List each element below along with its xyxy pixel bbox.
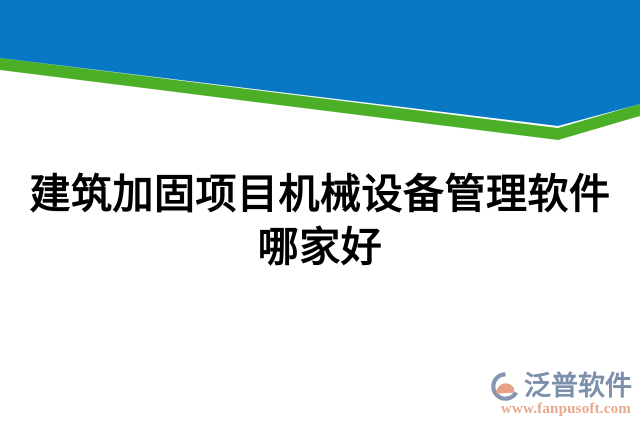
brand-url: www.fanpusoft.com	[501, 401, 631, 418]
page-title-line-1: 建筑加固项目机械设备管理软件	[0, 168, 640, 221]
page-title-line-2: 哪家好	[0, 221, 640, 274]
brand-logo: 泛普软件 www.fanpusoft.com	[490, 371, 632, 418]
brand-logo-row: 泛普软件	[490, 371, 632, 402]
header-banner	[0, 0, 640, 140]
fanpu-circle-logo-icon	[490, 371, 521, 402]
slide-canvas: 建筑加固项目机械设备管理软件 哪家好 泛普软件 www.fanpusoft.co…	[0, 0, 640, 427]
page-title: 建筑加固项目机械设备管理软件 哪家好	[0, 168, 640, 274]
brand-name: 泛普软件	[524, 372, 632, 402]
